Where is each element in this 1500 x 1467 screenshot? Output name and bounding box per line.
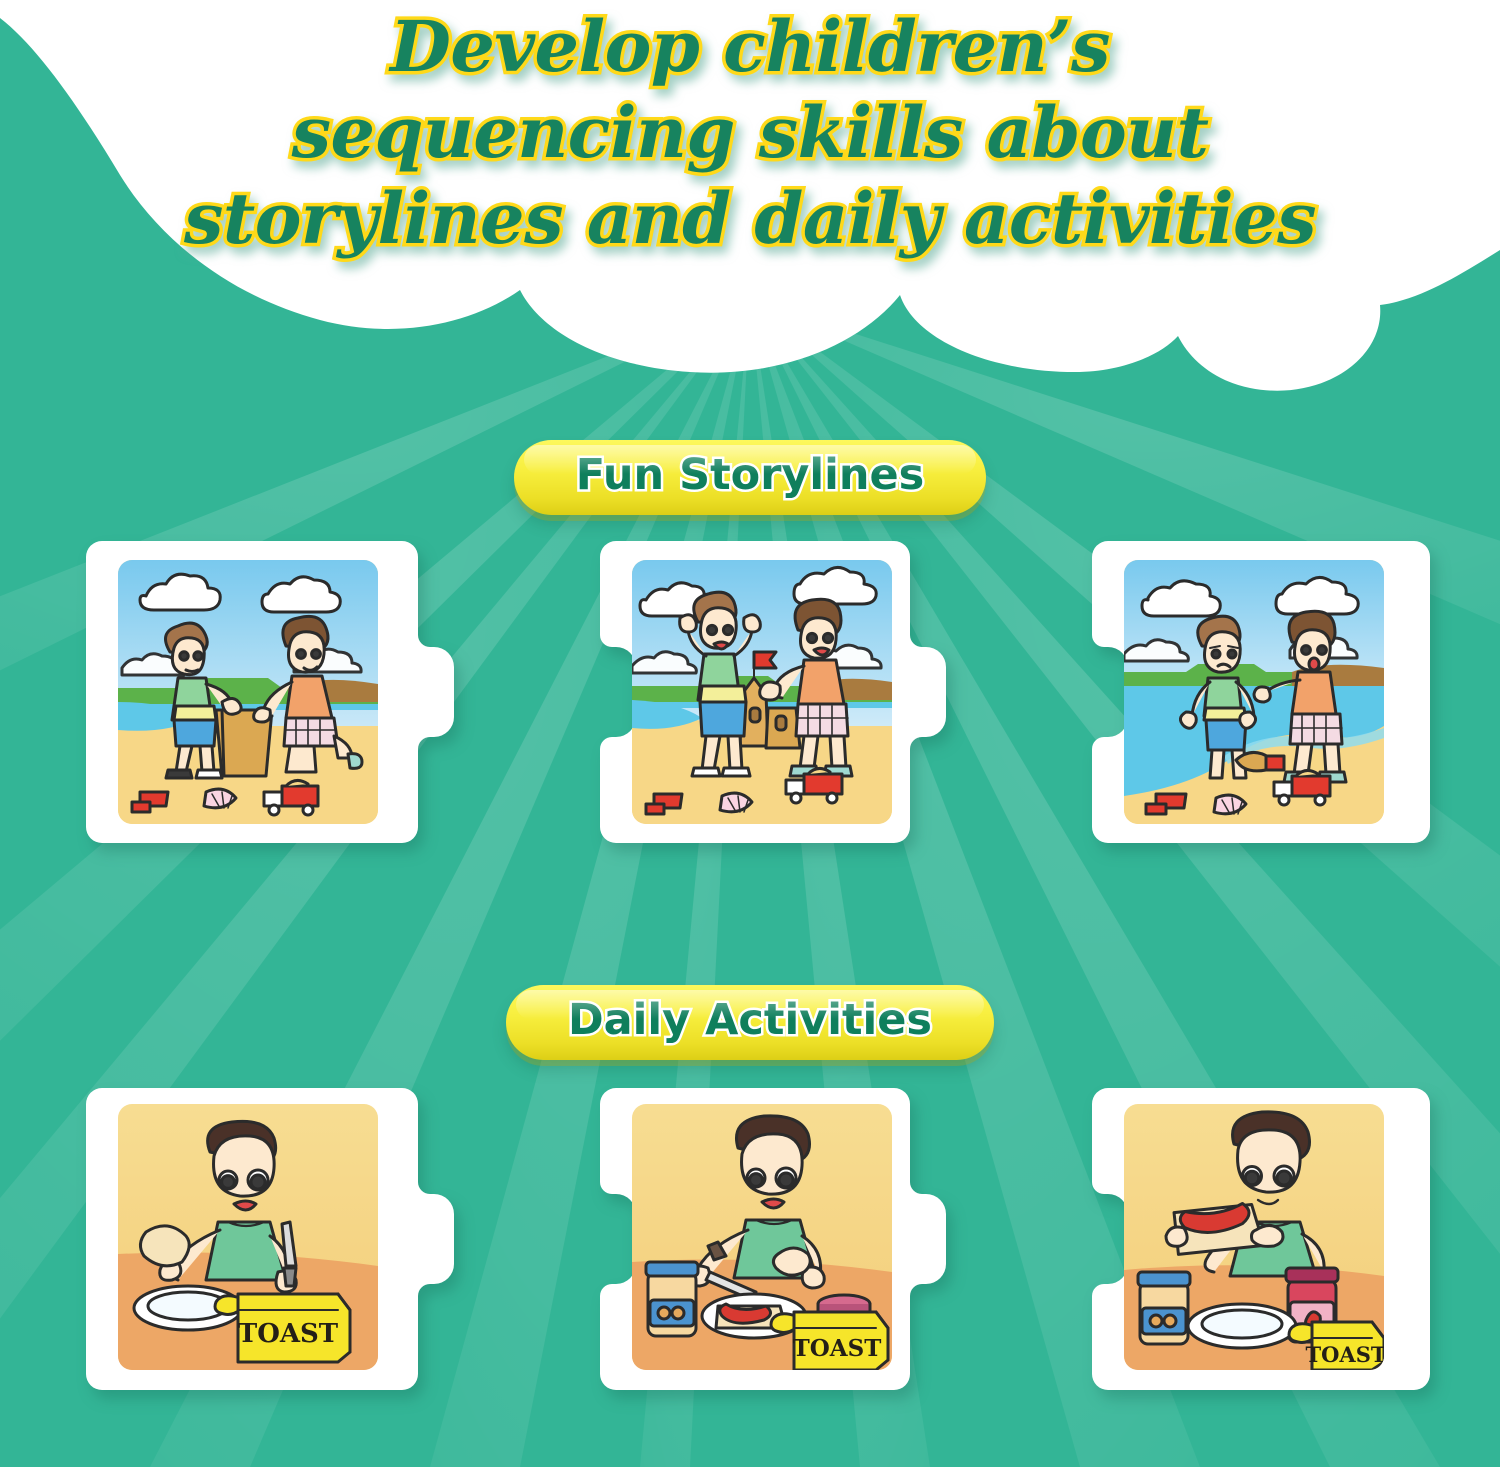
puzzle-card-beach-sandcastle-washed-away[interactable] xyxy=(1062,533,1460,851)
card-illustration: TOAST xyxy=(1124,1104,1384,1370)
card-illustration xyxy=(632,560,892,824)
card-illustration xyxy=(1124,560,1384,824)
puzzle-card-beach-building-sandcastle[interactable] xyxy=(78,533,476,851)
page-title-line-2: sequencing skills about xyxy=(0,90,1500,176)
card-illustration: TOAST xyxy=(632,1104,892,1370)
card-row-daily-activities: TOAST xyxy=(0,1080,1500,1420)
puzzle-card-toast-spread-jam[interactable]: TOAST xyxy=(570,1080,968,1398)
puzzle-card-beach-sandcastle-finished[interactable] xyxy=(570,533,968,851)
card-illustration xyxy=(118,560,378,824)
card-illustration: TOAST xyxy=(118,1104,378,1370)
section-pill[interactable]: Daily Activities xyxy=(506,985,994,1060)
section-pill-label: Daily Activities xyxy=(568,995,932,1045)
toast-bag-label: TOAST xyxy=(1305,1342,1384,1367)
card-row-fun-storylines xyxy=(0,533,1500,873)
puzzle-card-toast-take-bread-slice[interactable]: TOAST xyxy=(78,1080,476,1398)
section-pill-label: Fun Storylines xyxy=(576,450,925,500)
page-title-line-1: Develop children’s xyxy=(0,4,1500,90)
section-header-daily-activities: Daily Activities xyxy=(0,985,1500,1060)
toast-bag-label: TOAST xyxy=(238,1319,339,1349)
section-pill[interactable]: Fun Storylines xyxy=(514,440,987,515)
puzzle-card-toast-eat-sandwich[interactable]: TOAST xyxy=(1062,1080,1460,1398)
section-header-fun-storylines: Fun Storylines xyxy=(0,440,1500,515)
page-title-line-3: storylines and daily activities xyxy=(0,176,1500,262)
toast-bag-label: TOAST xyxy=(793,1335,882,1362)
page-title: Develop children’s sequencing skills abo… xyxy=(0,4,1500,262)
